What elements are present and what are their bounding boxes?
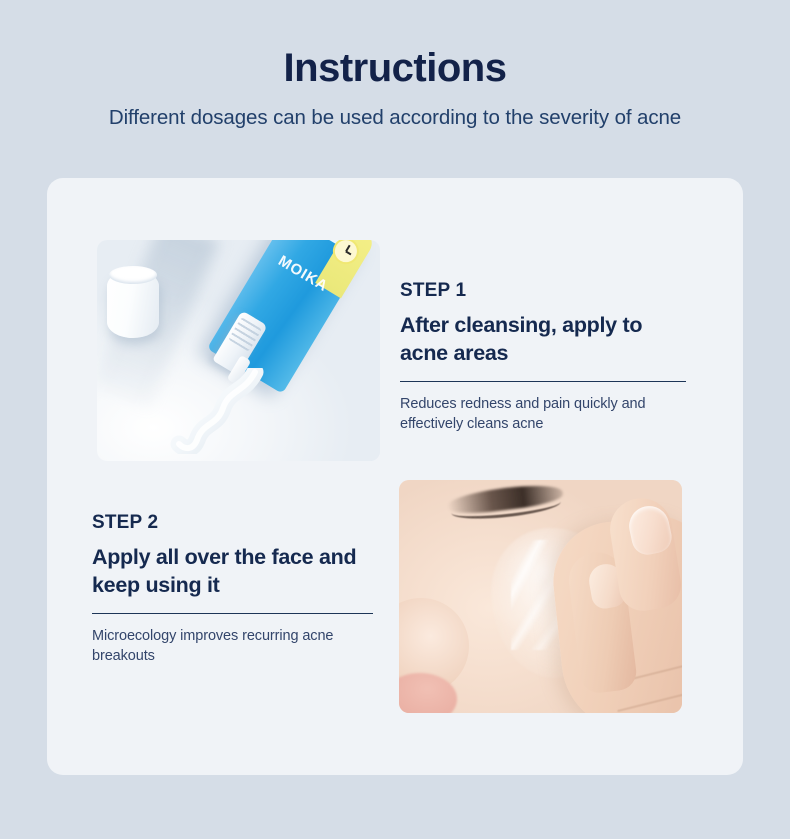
step-1-row: 24 HOURS MOIKA xyxy=(97,240,690,461)
step-2-divider xyxy=(92,613,373,614)
page-subtitle: Different dosages can be used according … xyxy=(0,88,790,130)
tube-cap xyxy=(107,270,159,338)
cream-zigzag xyxy=(159,368,289,454)
page-title: Instructions xyxy=(0,0,790,88)
step-1-label: STEP 1 xyxy=(400,280,690,302)
step-2-description: Microecology improves recurring acne bre… xyxy=(92,627,377,666)
step-2-text: STEP 2 Apply all over the face and keep … xyxy=(92,480,377,713)
step-1-photo: 24 HOURS MOIKA xyxy=(97,240,380,461)
step-1-heading: After cleansing, apply to acne areas xyxy=(400,312,690,367)
instructions-card: 24 HOURS MOIKA xyxy=(47,178,743,775)
step-1-text: STEP 1 After cleansing, apply to acne ar… xyxy=(400,240,690,461)
step-2-row: STEP 2 Apply all over the face and keep … xyxy=(92,480,682,713)
step-2-heading: Apply all over the face and keep using i… xyxy=(92,544,377,599)
step-1-divider xyxy=(400,381,686,382)
hand-crease xyxy=(617,689,682,712)
page-header: Instructions Different dosages can be us… xyxy=(0,0,790,130)
step-2-photo xyxy=(399,480,682,713)
step-2-label: STEP 2 xyxy=(92,512,377,534)
step-1-description: Reduces redness and pain quickly and eff… xyxy=(400,395,690,434)
